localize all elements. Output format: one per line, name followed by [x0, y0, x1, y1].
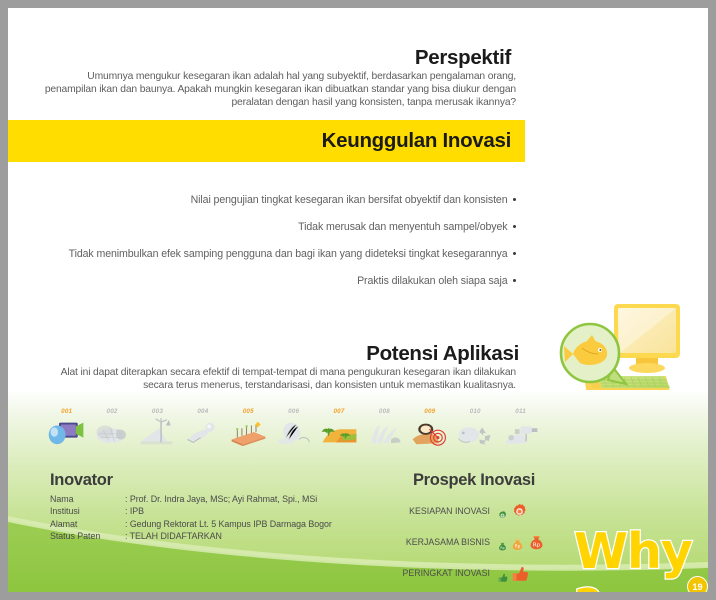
shell-icon [271, 416, 316, 448]
inovator-label: Institusi [50, 506, 125, 518]
sector-icon-006[interactable]: 006 [271, 408, 316, 456]
perspektif-body-text: Umumnya mengukur kesegaran ikan adalah h… [42, 70, 516, 110]
sector-icon-007[interactable]: 007 [316, 408, 361, 456]
inovator-label: Alamat [50, 519, 125, 531]
inovator-value: : IPB [125, 506, 332, 518]
coastal-land-icon [317, 416, 362, 448]
bullet-item: Tidak menimbulkan efek samping pengguna … [28, 247, 516, 261]
inovator-table: Nama: Prof. Dr. Indra Jaya, MSc; Ayi Rah… [50, 494, 332, 543]
inovator-value: : Gedung Rektorat Lt. 5 Kampus IPB Darma… [125, 519, 332, 531]
inovator-row: Alamat: Gedung Rektorat Lt. 5 Kampus IPB… [50, 519, 332, 531]
prospek-row: KERJASAMA BISNIS Rp Rp Rp [384, 533, 564, 551]
sector-number: 011 [498, 408, 543, 415]
sector-icon-003[interactable]: 003 [135, 408, 180, 456]
gear-icon [510, 502, 529, 521]
inovator-block: Inovator Nama: Prof. Dr. Indra Jaya, MSc… [50, 471, 400, 543]
grass-icon [362, 416, 407, 448]
machine-icon [498, 416, 543, 448]
keunggulan-heading: Keunggulan Inovasi [322, 129, 511, 153]
sector-number: 002 [89, 408, 134, 415]
sector-icon-011[interactable]: 011 [498, 408, 543, 456]
gear-icon [497, 510, 508, 521]
bullet-dot-icon [513, 198, 517, 202]
application-sector-icon-strip: 001 002 003 004 005 [44, 408, 544, 456]
inovator-value: : TELAH DIDAFTARKAN [125, 531, 332, 543]
sector-number: 007 [316, 408, 361, 415]
sector-number: 009 [407, 408, 452, 415]
sector-number: 003 [135, 408, 180, 415]
sector-icon-008[interactable]: 008 [362, 408, 407, 456]
page-number-badge: 19 [687, 576, 708, 592]
inovator-label: Nama [50, 494, 125, 506]
inovator-row: Nama: Prof. Dr. Indra Jaya, MSc; Ayi Rah… [50, 494, 332, 506]
sector-number: 004 [180, 408, 225, 415]
bullet-item: Praktis dilakukan oleh siapa saja [28, 274, 516, 288]
sector-number: 001 [44, 408, 89, 415]
bullet-label: Nilai pengujian tingkat kesegaran ikan b… [191, 194, 508, 206]
inovator-row: Status Paten: TELAH DIDAFTARKAN [50, 531, 332, 543]
svg-text:Rp: Rp [533, 542, 541, 548]
fish-net-icon [90, 416, 135, 448]
sector-icon-004[interactable]: 004 [180, 408, 225, 456]
prospek-row: PERINGKAT INOVASI [384, 564, 564, 582]
monitor-icon [614, 304, 680, 373]
keunggulan-bullet-list: Nilai pengujian tingkat kesegaran ikan b… [28, 193, 516, 301]
perspektif-heading: Perspektif [415, 47, 511, 69]
bullet-label: Tidak menimbulkan efek samping pengguna … [69, 248, 508, 260]
potensi-aplikasi-heading: Potensi Aplikasi [366, 343, 519, 365]
sector-number: 006 [271, 408, 316, 415]
seedbed-icon [226, 416, 271, 448]
bullet-label: Praktis dilakukan oleh siapa saja [357, 275, 507, 287]
bullet-item: Tidak merusak dan menyentuh sampel/obyek [28, 220, 516, 234]
page-canvas: Perspektif Umumnya mengukur kesegaran ik… [8, 8, 708, 592]
sector-number: 008 [362, 408, 407, 415]
sector-icon-009[interactable]: 009 [407, 408, 452, 456]
sector-icon-005[interactable]: 005 [226, 408, 271, 456]
water-drop-icon [44, 416, 89, 448]
bullet-dot-icon [513, 225, 517, 229]
bullet-item: Nilai pengujian tingkat kesegaran ikan b… [28, 193, 516, 207]
prospek-label: KERJASAMA BISNIS [384, 537, 497, 547]
bullet-label: Tidak merusak dan menyentuh sampel/obyek [298, 221, 507, 233]
bullet-dot-icon [513, 279, 517, 283]
keunggulan-banner: Keunggulan Inovasi [8, 120, 525, 162]
target-hand-icon [407, 416, 452, 448]
sector-icon-001[interactable]: 001 [44, 408, 89, 456]
sector-number: 010 [453, 408, 498, 415]
prospek-label: KESIAPAN INOVASI [384, 506, 497, 516]
inovator-row: Institusi: IPB [50, 506, 332, 518]
money-bag-icon: Rp [527, 533, 546, 552]
prospek-rating-icons: Rp Rp Rp [497, 533, 546, 552]
prospek-inovasi-block: Prospek Inovasi KESIAPAN INOVASI KERJASA… [384, 471, 564, 592]
sector-icon-010[interactable]: 010 [453, 408, 498, 456]
thumbs-up-icon [510, 564, 529, 583]
rocket-icon [180, 416, 225, 448]
prospek-heading: Prospek Inovasi [384, 471, 564, 490]
money-bag-icon: Rp [510, 537, 525, 552]
recycle-icon [453, 416, 498, 448]
svg-text:Rp: Rp [515, 543, 521, 549]
prospek-label: PERINGKAT INOVASI [384, 568, 497, 578]
windmill-icon [135, 416, 180, 448]
inovator-label: Status Paten [50, 531, 125, 543]
inovator-value: : Prof. Dr. Indra Jaya, MSc; Ayi Rahmat,… [125, 494, 332, 506]
bullet-dot-icon [513, 252, 517, 256]
inovator-heading: Inovator [50, 471, 400, 490]
sector-number: 005 [226, 408, 271, 415]
prospek-row: KESIAPAN INOVASI [384, 502, 564, 520]
potensi-aplikasi-body-text: Alat ini dapat diterapkan secara efektif… [42, 366, 516, 392]
prospek-rating-icons [497, 564, 529, 583]
svg-text:Rp: Rp [500, 545, 504, 549]
sector-icon-002[interactable]: 002 [89, 408, 134, 456]
prospek-rating-icons [497, 502, 529, 521]
why-text: Why ? [574, 523, 692, 592]
money-bag-icon: Rp [497, 541, 508, 552]
thumbs-up-icon [497, 572, 508, 583]
